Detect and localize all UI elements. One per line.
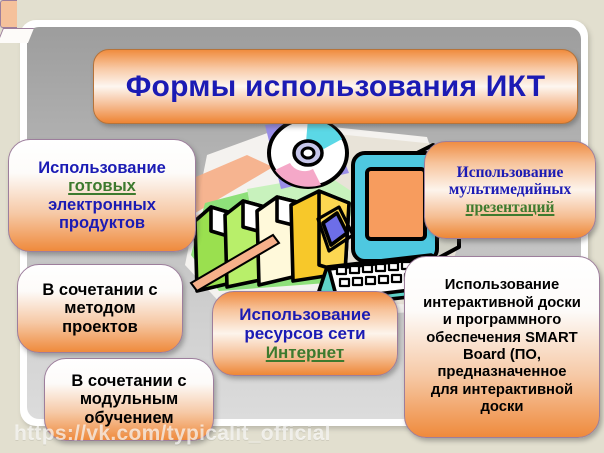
box-projects-line3: проектов (18, 318, 182, 336)
box-smart-line8: доски (405, 399, 599, 416)
box-smart-line4: обеспечения SMART (405, 330, 599, 347)
box-multimedia-presentations[interactable]: Использование мультимедийных презентаций (424, 141, 596, 239)
box-internet-line3: Интернет (213, 343, 397, 362)
slide-canvas: Формы использования ИКТ Использование го… (0, 0, 604, 453)
box-multimedia-presentations-text: Использование мультимедийных презентаций (425, 164, 595, 216)
box-modular-line1: В сочетании с (45, 372, 213, 390)
box-projects-line1: В сочетании с (18, 281, 182, 299)
page-title: Формы использования ИКТ (94, 70, 577, 104)
box-ready-products[interactable]: Использование готовых электронных продук… (8, 139, 196, 252)
box-smart-line1: Использование (405, 277, 599, 294)
callout-tail-multimedia (0, 0, 17, 28)
box-smart-line2: интерактивной доски (405, 295, 599, 312)
box-smart-line6: предназначенное (405, 364, 599, 381)
box-ready-products-line4: продуктов (9, 214, 195, 232)
box-modular-line2: модульным (45, 390, 213, 408)
box-smart-board-text: Использование интерактивной доски и прог… (405, 277, 599, 417)
box-project-method[interactable]: В сочетании с методом проектов (17, 264, 183, 353)
box-internet-resources-text: Использование ресурсов сети Интернет (213, 305, 397, 362)
box-multimedia-line1: Использование (425, 164, 595, 181)
box-ready-products-line1: Использование (9, 159, 195, 177)
box-projects-line2: методом (18, 299, 182, 317)
slide-title-banner: Формы использования ИКТ (93, 49, 578, 124)
box-smart-line7: для интерактивной (405, 382, 599, 399)
box-project-method-text: В сочетании с методом проектов (18, 281, 182, 336)
box-ready-products-text: Использование готовых электронных продук… (9, 159, 195, 233)
box-multimedia-line2: мультимедийных (425, 181, 595, 198)
box-internet-line2: ресурсов сети (213, 324, 397, 343)
box-multimedia-line3: презентаций (425, 199, 595, 216)
box-modular-line3: обучением (45, 409, 213, 427)
box-internet-line1: Использование (213, 305, 397, 324)
box-modular-learning[interactable]: В сочетании с модульным обучением (44, 358, 214, 441)
box-smart-line5: Board (ПО, (405, 347, 599, 364)
box-internet-resources[interactable]: Использование ресурсов сети Интернет (212, 291, 398, 376)
box-modular-learning-text: В сочетании с модульным обучением (45, 372, 213, 427)
box-ready-products-line3: электронных (9, 196, 195, 214)
box-smart-line3: и программного (405, 312, 599, 329)
box-ready-products-line2: готовых (9, 177, 195, 195)
cd-disc-icon (269, 119, 347, 187)
box-smart-board[interactable]: Использование интерактивной доски и прог… (404, 256, 600, 438)
